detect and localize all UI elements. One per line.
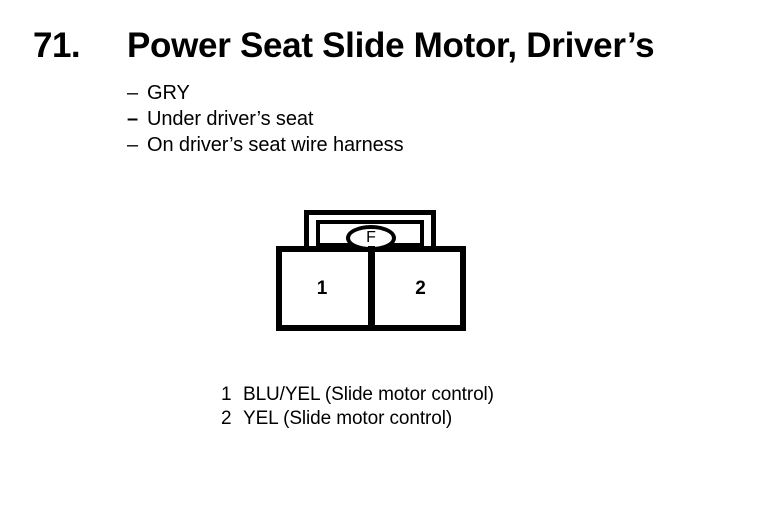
pin-legend: 1BLU/YEL (Slide motor control) 2YEL (Sli… bbox=[221, 383, 651, 431]
pin-legend-number: 2 bbox=[221, 407, 243, 431]
pin-number: 2 bbox=[415, 278, 426, 300]
dash-icon: – bbox=[127, 132, 147, 158]
item-number: 71. bbox=[33, 24, 80, 68]
connector-pin-cell-1: 1 bbox=[276, 246, 368, 331]
page-title: Power Seat Slide Motor, Driver’s bbox=[127, 24, 654, 68]
pin-legend-row: 2YEL (Slide motor control) bbox=[221, 407, 651, 431]
pin-number: 1 bbox=[317, 278, 328, 300]
page-header: 71. Power Seat Slide Motor, Driver’s bbox=[0, 24, 768, 70]
spec-item-location: –Under driver’s seat bbox=[127, 106, 647, 132]
spec-item-color: –GRY bbox=[127, 80, 647, 106]
connector-diagram: F 1 2 bbox=[276, 210, 472, 334]
dash-icon: – bbox=[127, 106, 147, 132]
spec-item-label: Under driver’s seat bbox=[147, 108, 313, 130]
pin-legend-description: BLU/YEL (Slide motor control) bbox=[243, 384, 494, 405]
spec-item-harness: –On driver’s seat wire harness bbox=[127, 132, 647, 158]
pin-legend-row: 1BLU/YEL (Slide motor control) bbox=[221, 383, 651, 407]
spec-item-label: On driver’s seat wire harness bbox=[147, 134, 403, 156]
spec-list: –GRY –Under driver’s seat –On driver’s s… bbox=[127, 80, 647, 158]
connector-pin-cell-2: 2 bbox=[375, 246, 466, 331]
pin-legend-description: YEL (Slide motor control) bbox=[243, 408, 452, 429]
spec-item-label: GRY bbox=[147, 82, 190, 104]
dash-icon: – bbox=[127, 80, 147, 106]
connector-cell-divider bbox=[368, 246, 375, 331]
pin-legend-number: 1 bbox=[221, 383, 243, 407]
connector-latch-label: F bbox=[350, 229, 392, 247]
